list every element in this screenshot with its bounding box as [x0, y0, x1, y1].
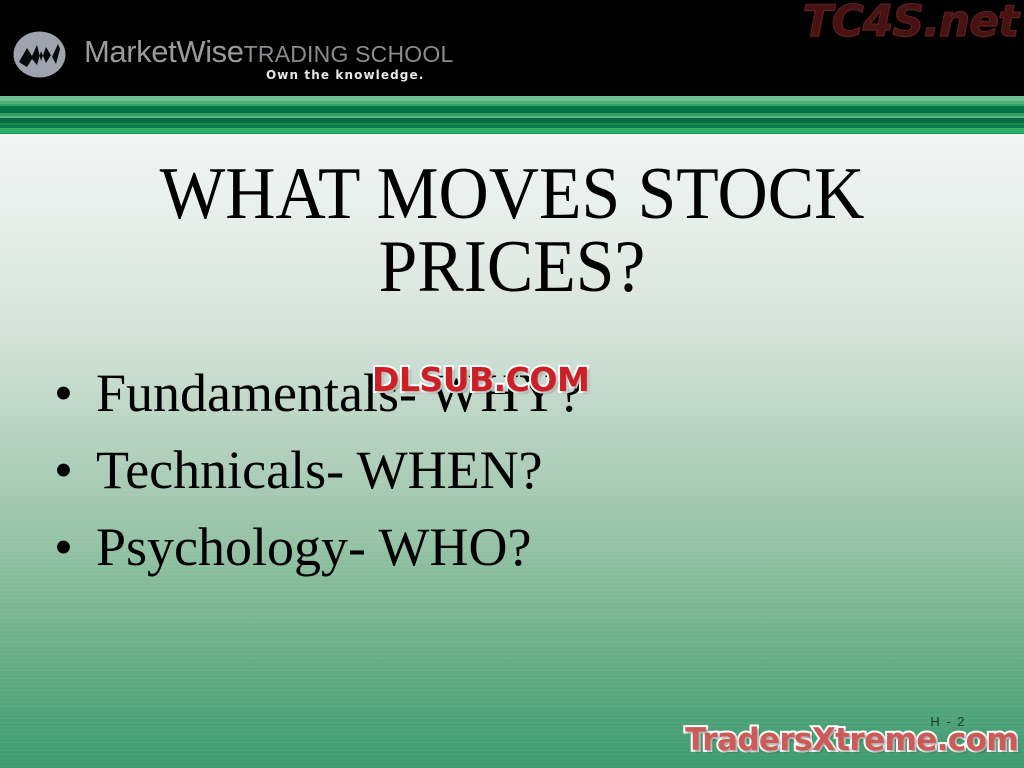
- list-item: • Psychology- WHO?: [54, 520, 954, 574]
- list-item-label: Psychology- WHO?: [96, 520, 531, 574]
- marketwise-mw-chart-icon: [13, 31, 66, 78]
- list-item-label: Technicals- WHEN?: [96, 443, 543, 497]
- bullet-marker-icon: •: [54, 443, 96, 497]
- header-bar: MarketWiseTRADING SCHOOL Own the knowled…: [0, 0, 1024, 96]
- watermark-tc4s: TC4S.net: [802, 0, 1018, 47]
- brand-wordmark: MarketWiseTRADING SCHOOL: [84, 36, 453, 67]
- bullet-marker-icon: •: [54, 366, 96, 420]
- watermark-tradersxtreme: TradersXtreme.com: [685, 722, 1018, 758]
- page-title: WHAT MOVES STOCK PRICES?: [89, 158, 935, 303]
- stripe-4: [0, 106, 1024, 113]
- brand-name-primary: MarketWise: [84, 34, 244, 69]
- green-stripe-band: [0, 96, 1024, 134]
- brand-tagline: Own the knowledge.: [266, 68, 424, 82]
- page-title-line2: PRICES?: [89, 231, 935, 304]
- list-item: • Technicals- WHEN?: [54, 443, 954, 497]
- bullet-list: • Fundamentals- WHY? • Technicals- WHEN?…: [54, 366, 954, 597]
- bullet-marker-icon: •: [54, 520, 96, 574]
- watermark-dlsub: DLSUB.COM: [372, 360, 589, 399]
- page-title-line1: WHAT MOVES STOCK: [89, 158, 935, 231]
- presentation-slide: MarketWiseTRADING SCHOOL Own the knowled…: [0, 0, 1024, 768]
- brand-name-secondary: TRADING SCHOOL: [244, 41, 454, 67]
